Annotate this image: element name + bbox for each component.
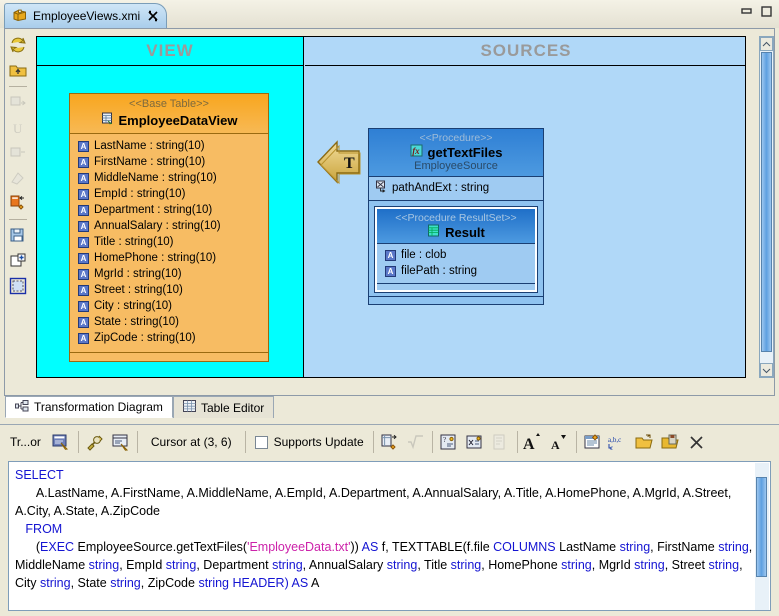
toolbar-divider: [137, 431, 138, 453]
sql-token: , Street: [665, 558, 709, 572]
attribute-icon: A: [78, 141, 89, 152]
transformation-editor-window: EmployeeViews.xmi: [0, 0, 779, 616]
sql-token: , Department: [196, 558, 272, 572]
sql-token: string: [387, 558, 418, 572]
table-attribute-label: HomePhone : string(10): [94, 252, 216, 264]
sql-token: , EmpId: [119, 558, 166, 572]
decrease-font-icon[interactable]: A: [547, 429, 573, 455]
reconcile-icon[interactable]: [82, 429, 108, 455]
tab-transformation-diagram-label: Transformation Diagram: [34, 400, 163, 414]
attribute-icon: A: [385, 266, 396, 277]
sql-token: LastName: [556, 540, 620, 554]
table-stereotype: <<Base Table>>: [70, 98, 268, 110]
sql-token: string: [708, 558, 739, 572]
scroll-down-icon[interactable]: [760, 363, 773, 377]
svg-text:A: A: [523, 436, 535, 452]
table-attribute-label: State : string(10): [94, 316, 179, 328]
sql-token: , HomePhone: [481, 558, 561, 572]
diagram-palette: U: [5, 30, 31, 390]
table-title: EmployeeDataView: [119, 113, 238, 128]
palette-divider: [9, 86, 27, 87]
node-get-text-files[interactable]: <<Procedure>> fx getTextFiles EmployeeSo…: [368, 128, 544, 305]
table-header: <<Base Table>> EmployeeDataView: [70, 94, 268, 134]
toolbar-divider: [517, 431, 518, 453]
table-attribute-label: Street : string(10): [94, 284, 183, 296]
toolbar-divider: [245, 431, 246, 453]
table-attribute-label: LastName : string(10): [94, 140, 205, 152]
window-controls: [740, 6, 773, 17]
properties-icon[interactable]: [7, 192, 29, 214]
tab-table-editor-label: Table Editor: [201, 401, 264, 415]
sql-token: string: [272, 558, 303, 572]
sql-token: string: [110, 576, 141, 590]
editor-tab-employeeviews[interactable]: EmployeeViews.xmi: [4, 3, 167, 28]
resultset-column-label: file : clob: [401, 249, 446, 261]
attribute-icon: A: [78, 221, 89, 232]
remove-source-icon: [7, 142, 29, 164]
grid-icon: [183, 400, 196, 415]
resultset-stereotype: <<Procedure ResultSet>>: [377, 212, 535, 224]
sql-token: string: [561, 558, 592, 572]
sql-token: 'EmployeeData.txt': [247, 540, 350, 554]
attribute-icon: A: [78, 301, 89, 312]
validate-icon[interactable]: [403, 429, 429, 455]
procedure-stereotype: <<Procedure>>: [369, 132, 543, 144]
scroll-up-icon[interactable]: [760, 37, 773, 51]
maximize-icon[interactable]: [760, 6, 773, 17]
sql-token: string: [620, 540, 651, 554]
table-attribute-label: ZipCode : string(10): [94, 332, 196, 344]
increase-font-icon[interactable]: A: [521, 429, 547, 455]
tab-table-editor[interactable]: Table Editor: [173, 396, 274, 418]
diagram-tab-bar: Transformation Diagram Table Editor: [5, 396, 274, 418]
svg-text:a,b,c: a,b,c: [608, 436, 621, 444]
svg-text:?: ?: [443, 436, 446, 444]
sql-token: , MgrId: [592, 558, 634, 572]
procedure-header: <<Procedure>> fx getTextFiles EmployeeSo…: [369, 129, 543, 177]
resultset-column-list: Afile : clobAfilePath : string: [377, 244, 535, 283]
sql-token: , AnnualSalary: [303, 558, 387, 572]
package-icon: [13, 8, 27, 25]
procedure-icon: fx: [410, 144, 423, 160]
save-diagram-icon[interactable]: [7, 225, 29, 247]
table-title-row: EmployeeDataView: [70, 112, 268, 128]
close-icon[interactable]: [147, 10, 159, 22]
procedure-title: getTextFiles: [428, 145, 503, 160]
sql-token: AS: [292, 576, 309, 590]
resultset-icon: [427, 224, 440, 240]
save-to-file-icon[interactable]: [658, 429, 684, 455]
minimize-icon[interactable]: [740, 6, 753, 17]
close-sql-icon[interactable]: [684, 429, 710, 455]
sql-token: AS: [362, 540, 379, 554]
table-attribute[interactable]: AHomePhone : string(10): [70, 250, 268, 266]
sql-token: , FirstName: [650, 540, 718, 554]
procedure-title-row: fx getTextFiles: [369, 144, 543, 160]
supports-update-checkbox[interactable]: Supports Update: [249, 435, 370, 449]
sql-token: A.LastName, A.FirstName, A.MiddleName, A…: [15, 486, 734, 518]
preview-data-icon[interactable]: [108, 429, 134, 455]
table-attribute[interactable]: AState : string(10): [70, 314, 268, 330]
title-bar: EmployeeViews.xmi: [0, 0, 779, 28]
sql-token: , ZipCode: [141, 576, 199, 590]
table-attribute[interactable]: AAnnualSalary : string(10): [70, 218, 268, 234]
sql-token: string: [166, 558, 197, 572]
sources-band-label: SOURCES: [305, 37, 746, 66]
attribute-icon: A: [78, 285, 89, 296]
svg-text:U: U: [13, 121, 23, 136]
cursor-position-label: Cursor at (3, 6): [141, 435, 242, 449]
sql-vscroll-thumb[interactable]: [756, 477, 767, 577]
sql-token: string: [451, 558, 482, 572]
sql-token: COLUMNS: [493, 540, 556, 554]
table-attribute[interactable]: ADepartment : string(10): [70, 202, 268, 218]
clear-icon: [7, 167, 29, 189]
attribute-icon: A: [78, 237, 89, 248]
table-icon: [101, 112, 114, 128]
table-attribute[interactable]: AFirstName : string(10): [70, 154, 268, 170]
diagram-vscroll-thumb[interactable]: [761, 52, 772, 352]
parameter-icon: [375, 180, 387, 196]
sql-token: string: [198, 576, 229, 590]
criteria-builder-icon[interactable]: ?: [436, 429, 462, 455]
toolbar-divider: [373, 431, 374, 453]
add-transformation-icon: [7, 92, 29, 114]
sql-token: HEADER): [229, 576, 292, 590]
sql-token: string: [634, 558, 665, 572]
refresh-icon[interactable]: [7, 34, 29, 56]
sql-token: f, TEXTTABLE(f.file: [378, 540, 493, 554]
checkbox-box[interactable]: [255, 436, 268, 449]
tab-transformation-diagram[interactable]: Transformation Diagram: [5, 396, 173, 418]
open-parent-icon[interactable]: [7, 59, 29, 81]
sql-token: EmployeeSource.getTextFiles(: [74, 540, 247, 554]
sql-token: SELECT: [15, 468, 64, 482]
sql-token: EXEC: [40, 540, 74, 554]
expand-select-icon[interactable]: [377, 429, 403, 455]
procedure-subtitle: EmployeeSource: [369, 160, 543, 172]
table-attribute[interactable]: AZipCode : string(10): [70, 330, 268, 346]
sql-token: string: [718, 540, 749, 554]
diagram-icon: [15, 400, 29, 415]
parameter-label: pathAndExt : string: [392, 182, 489, 194]
table-attribute[interactable]: ATitle : string(10): [70, 234, 268, 250]
sql-token: string: [40, 576, 71, 590]
attribute-icon: A: [78, 269, 89, 280]
table-attribute-label: MgrId : string(10): [94, 268, 182, 280]
attribute-icon: A: [78, 189, 89, 200]
attribute-icon: A: [78, 173, 89, 184]
attribute-icon: A: [78, 333, 89, 344]
undo-icon: U: [7, 117, 29, 139]
palette-divider: [9, 219, 27, 220]
attribute-icon: A: [385, 250, 396, 261]
resultset-title: Result: [445, 225, 485, 240]
table-attribute-list: ALastName : string(10)AFirstName : strin…: [70, 134, 268, 352]
toolbar-divider: [78, 431, 79, 453]
sql-editor[interactable]: SELECT A.LastName, A.FirstName, A.Middle…: [8, 461, 771, 611]
sql-vertical-scrollbar[interactable]: [755, 463, 769, 611]
table-attribute[interactable]: AMgrId : string(10): [70, 266, 268, 282]
table-attribute-label: Title : string(10): [94, 236, 173, 248]
resultset-title-row: Result: [377, 224, 535, 240]
attribute-icon: A: [78, 317, 89, 328]
table-attribute[interactable]: AMiddleName : string(10): [70, 170, 268, 186]
view-band-label: VIEW: [37, 37, 303, 66]
table-attribute[interactable]: ALastName : string(10): [70, 138, 268, 154]
resultset-header: <<Procedure ResultSet>> Result: [377, 209, 535, 244]
toolbar-divider: [432, 431, 433, 453]
svg-text:T: T: [344, 155, 355, 172]
table-footer: [70, 352, 268, 361]
svg-text:A: A: [551, 438, 560, 452]
resultset-column[interactable]: Afile : clob: [377, 247, 535, 263]
toolbar-divider: [576, 431, 577, 453]
expression-builder-icon[interactable]: [462, 429, 488, 455]
attribute-icon: A: [78, 205, 89, 216]
table-attribute[interactable]: AStreet : string(10): [70, 282, 268, 298]
attribute-icon: A: [78, 253, 89, 264]
find-replace-icon[interactable]: a,b,c c: [606, 429, 632, 455]
edit-transformation-icon[interactable]: [49, 429, 75, 455]
node-result-set[interactable]: <<Procedure ResultSet>> Result Afile : c…: [375, 207, 537, 292]
table-attribute[interactable]: AEmpId : string(10): [70, 186, 268, 202]
table-attribute[interactable]: ACity : string(10): [70, 298, 268, 314]
sql-token: )): [351, 540, 362, 554]
table-attribute-label: Department : string(10): [94, 204, 212, 216]
select-region-icon[interactable]: [7, 275, 29, 297]
table-attribute-label: AnnualSalary : string(10): [94, 220, 221, 232]
procedure-footer: [369, 296, 543, 304]
resultset-column-label: filePath : string: [401, 265, 477, 277]
transformation-sql-pane: Tr...or: [0, 424, 779, 616]
sql-token: (: [15, 540, 40, 554]
sql-token: string: [89, 558, 120, 572]
svg-text:fx: fx: [412, 146, 420, 156]
supports-update-label: Supports Update: [274, 435, 364, 449]
table-attribute-label: City : string(10): [94, 300, 172, 312]
table-attribute-label: MiddleName : string(10): [94, 172, 217, 184]
editor-tab-label: EmployeeViews.xmi: [33, 9, 140, 23]
diagram-canvas[interactable]: VIEW SOURCES <<Base Table>> EmployeeData…: [36, 36, 746, 378]
sql-editor-text[interactable]: SELECT A.LastName, A.FirstName, A.Middle…: [15, 466, 757, 592]
resultset-footer: [377, 283, 535, 290]
transformation-arrow[interactable]: T: [315, 135, 369, 191]
sql-pane-title: Tr...or: [0, 435, 49, 449]
optimize-sql-icon[interactable]: [580, 429, 606, 455]
resultset-column[interactable]: AfilePath : string: [377, 263, 535, 279]
attribute-icon: A: [78, 157, 89, 168]
sql-token: , Title: [417, 558, 450, 572]
add-node-icon[interactable]: [7, 250, 29, 272]
sql-toolbar: Tr...or: [0, 425, 779, 459]
node-employee-data-view[interactable]: <<Base Table>> EmployeeDataView ALastNam…: [69, 93, 269, 362]
sql-token: A: [308, 576, 319, 590]
sql-token: FROM: [15, 522, 62, 536]
diagram-vertical-scrollbar[interactable]: [759, 36, 774, 378]
sql-token: , State: [71, 576, 111, 590]
procedure-parameter: pathAndExt : string: [369, 177, 543, 201]
table-attribute-label: EmpId : string(10): [94, 188, 185, 200]
format-sql-icon[interactable]: [488, 429, 514, 455]
open-icon[interactable]: [632, 429, 658, 455]
table-attribute-label: FirstName : string(10): [94, 156, 205, 168]
